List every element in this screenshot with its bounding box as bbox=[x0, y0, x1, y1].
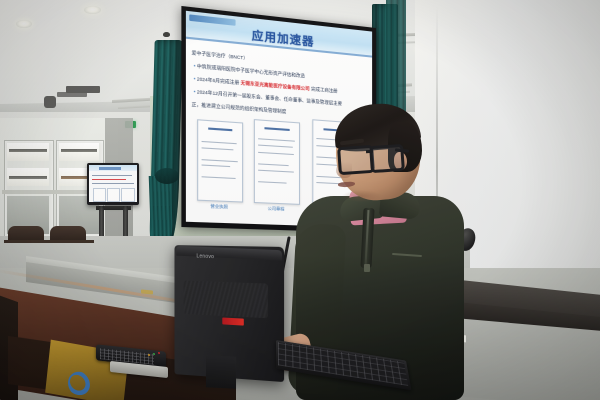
slide-bullet-0: 爱中子医学治疗（BNCT） bbox=[192, 50, 248, 61]
slide-bullet-text: 中筑院或瑞阳医院中子医学中心无形资产评估和改造 bbox=[197, 63, 305, 78]
bullet-marker: • bbox=[194, 63, 196, 69]
mirrored-line bbox=[92, 175, 132, 176]
blind-slat-1 bbox=[9, 149, 47, 152]
blind-slat-2 bbox=[61, 149, 97, 152]
lecture-hall-photo: 应用加速器 爱中子医学治疗（BNCT） • 中筑院或瑞阳医院中子医学中心无形资产… bbox=[0, 0, 600, 400]
presenter-chin-shadow bbox=[342, 190, 382, 202]
eyeglasses-bridge bbox=[366, 150, 373, 153]
thumb-line bbox=[258, 181, 286, 183]
downlight-7 bbox=[16, 20, 32, 28]
slide-bullet-text: 2024年6月完成注册 bbox=[197, 76, 239, 85]
slide-thumbnail-caption-2: 公司章程 bbox=[254, 205, 298, 213]
slide-thumbnail-1 bbox=[197, 119, 243, 202]
thumb-line bbox=[201, 141, 236, 144]
slide-thumbnail-caption-1: 营业执照 bbox=[197, 203, 241, 211]
slide-bullet-text: 正，推进建立公司规范的组织架构及管理制度 bbox=[192, 102, 287, 115]
bullet-marker: • bbox=[194, 76, 196, 82]
lenovo-badge-icon bbox=[222, 317, 244, 325]
thumb-title-bar bbox=[208, 127, 233, 131]
thumb-title-bar bbox=[265, 127, 290, 131]
thumb-line bbox=[258, 169, 293, 172]
confidence-monitor-screen[interactable] bbox=[89, 165, 137, 202]
thumb-line bbox=[258, 151, 294, 154]
curtain-tieback[interactable] bbox=[155, 168, 179, 184]
thumb-line bbox=[258, 163, 289, 166]
thumb-line bbox=[258, 138, 295, 141]
monitor-vent-grille bbox=[184, 280, 268, 318]
window-blind-upper-left[interactable] bbox=[7, 143, 49, 161]
remote-indicator-green bbox=[153, 353, 155, 355]
blind-slat-3 bbox=[9, 176, 47, 179]
back-row-rail bbox=[4, 240, 94, 243]
mirrored-line bbox=[92, 183, 134, 184]
ceiling-projector-mount bbox=[44, 96, 56, 108]
slide-bullet-highlight: 无锡东亚光离能医疗设备有限公司 bbox=[241, 80, 310, 91]
thumb-line bbox=[201, 176, 235, 179]
downlight-6 bbox=[84, 6, 101, 14]
mirrored-thumb bbox=[93, 188, 106, 202]
bullet-marker: • bbox=[194, 89, 196, 95]
slide-bullet-text: 爱中子医学治疗（BNCT） bbox=[192, 50, 248, 61]
remote-indicator-amber bbox=[148, 354, 150, 356]
thumb-line bbox=[201, 159, 238, 162]
mirrored-slide-title-bar bbox=[99, 167, 121, 170]
monitor-stand bbox=[206, 355, 236, 389]
slide-bullet-4: 正，推进建立公司规范的组织架构及管理制度 bbox=[192, 102, 287, 115]
slide-bullet-1: • 中筑院或瑞阳医院中子医学中心无形资产评估和改造 bbox=[194, 63, 305, 78]
monitor-brand-label: Lenovo bbox=[196, 253, 225, 260]
thumb-line bbox=[201, 165, 230, 168]
mirrored-thumb bbox=[121, 188, 135, 202]
curtain-right-fold bbox=[386, 0, 406, 120]
mirrored-thumb bbox=[107, 188, 120, 202]
thumb-line bbox=[258, 145, 292, 148]
thumb-line bbox=[201, 148, 233, 151]
ceiling-track-light-2 bbox=[57, 92, 87, 97]
mirrored-line-highlight bbox=[92, 179, 126, 180]
slide-bullet-tail: 完成工商注册 bbox=[311, 86, 338, 93]
ceiling-smoke-detector bbox=[163, 32, 170, 37]
slide-thumbnail-2 bbox=[254, 119, 300, 205]
remote-indicator-red bbox=[158, 352, 160, 354]
window-blind-upper-right[interactable] bbox=[59, 143, 99, 161]
